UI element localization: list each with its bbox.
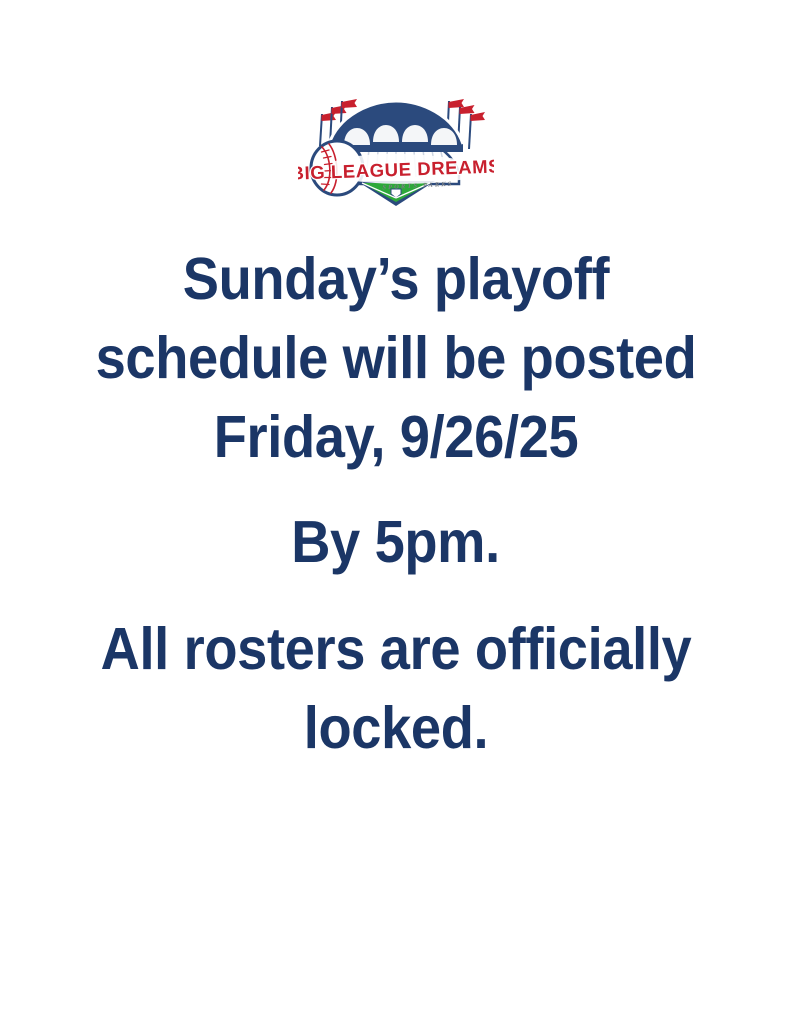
- announcement-body: Sunday’s playoff schedule will be posted…: [0, 240, 791, 768]
- logo-container: BIG LEAGUE DREAMS SPORTS PARKS: [0, 86, 791, 208]
- headline-line-3: Friday, 9/26/25: [92, 398, 699, 477]
- big-league-dreams-logo: BIG LEAGUE DREAMS SPORTS PARKS: [298, 86, 494, 208]
- logo-artwork: BIG LEAGUE DREAMS SPORTS PARKS: [298, 86, 494, 208]
- flyer-page: BIG LEAGUE DREAMS SPORTS PARKS Sunday’s …: [0, 0, 791, 1024]
- paragraph-deadline-notice: By 5pm.: [32, 503, 760, 582]
- paragraph-schedule-notice: Sunday’s playoff schedule will be posted…: [92, 240, 699, 477]
- roster-lock-line-1: All rosters are officially: [92, 610, 699, 689]
- paragraph-roster-lock-notice: All rosters are officially locked.: [92, 610, 699, 768]
- headline-line-2: schedule will be posted: [92, 319, 699, 398]
- headline-line-1: Sunday’s playoff: [92, 240, 699, 319]
- deadline-line-1: By 5pm.: [32, 503, 760, 582]
- roster-lock-line-2: locked.: [92, 689, 699, 768]
